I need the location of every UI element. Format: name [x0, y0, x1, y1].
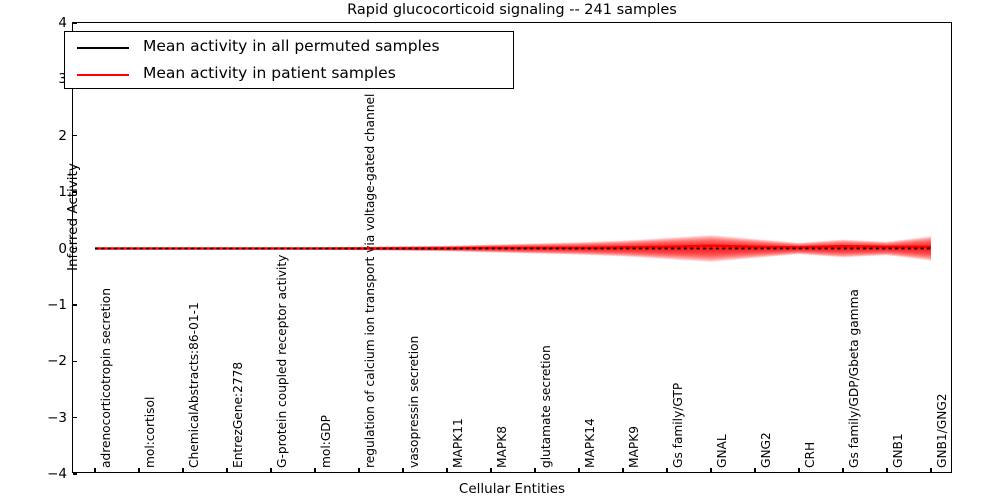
- page-title: Rapid glucocorticoid signaling -- 241 sa…: [72, 0, 952, 20]
- legend-item-patient: Mean activity in patient samples: [65, 60, 513, 89]
- legend-swatch-permuted: [77, 47, 129, 49]
- y-tick-label: −4: [7, 466, 67, 482]
- legend-label-permuted: Mean activity in all permuted samples: [143, 37, 440, 55]
- y-tick-mark: [73, 473, 77, 474]
- legend-swatch-patient: [77, 74, 129, 76]
- y-tick-label: 0: [7, 241, 67, 257]
- y-tick-label: 3: [7, 71, 67, 87]
- chart-figure: Rapid glucocorticoid signaling -- 241 sa…: [0, 0, 1000, 500]
- plot-area: Inferred Activity 43210−1−2−3−4 adrenoco…: [72, 22, 952, 473]
- data-series-svg: [73, 23, 951, 472]
- y-tick-label: −1: [7, 297, 67, 313]
- y-tick-label: 4: [7, 15, 67, 31]
- plot-canvas: [73, 23, 951, 472]
- y-tick-label: 2: [7, 128, 67, 144]
- x-axis-label: Cellular Entities: [72, 481, 952, 497]
- legend-item-permuted: Mean activity in all permuted samples: [65, 33, 513, 62]
- y-tick-label: −2: [7, 353, 67, 369]
- y-tick-label: −3: [7, 410, 67, 426]
- chart-legend: Mean activity in all permuted samples Me…: [64, 31, 514, 89]
- legend-label-patient: Mean activity in patient samples: [143, 64, 396, 82]
- y-tick-label: 1: [7, 184, 67, 200]
